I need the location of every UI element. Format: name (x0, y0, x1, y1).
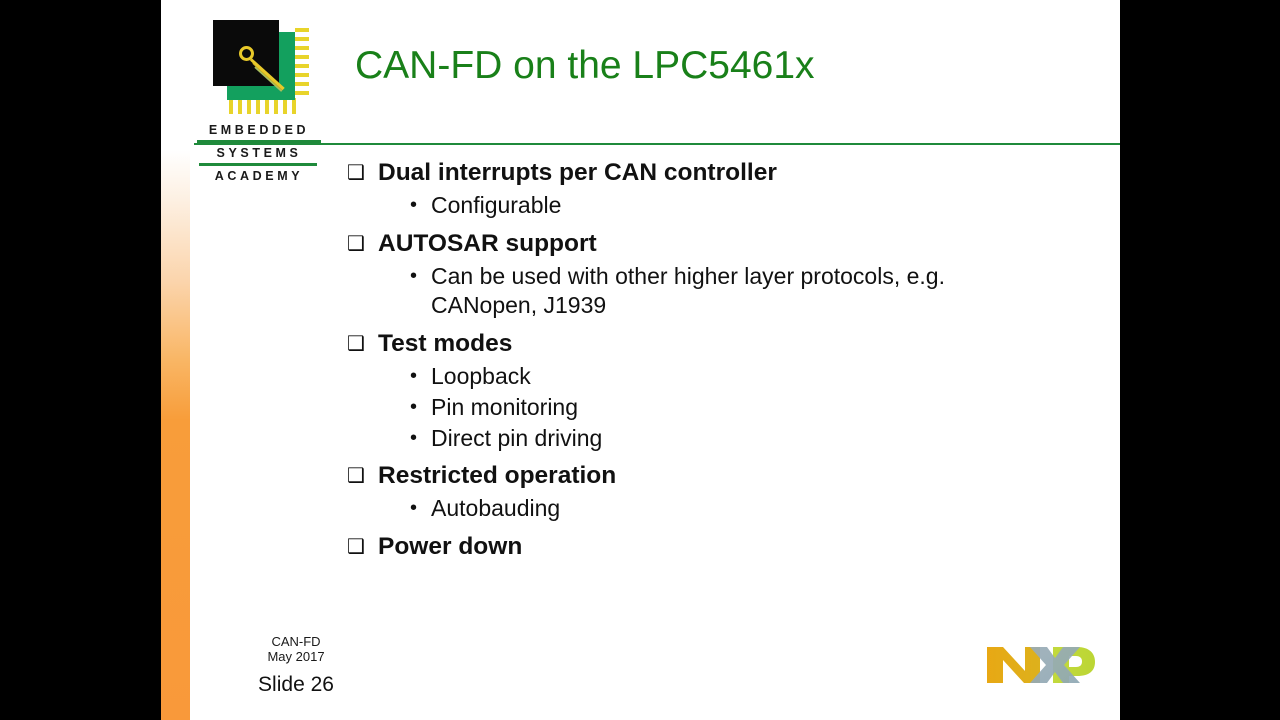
square-bullet-icon: ❑ (347, 329, 378, 359)
list-item: • Can be used with other higher layer pr… (410, 262, 1087, 320)
list-item: • Loopback (410, 362, 1087, 391)
list-item-label: Autobauding (431, 494, 560, 523)
chip-pins-right-icon (295, 28, 309, 100)
dot-bullet-icon: • (410, 494, 431, 523)
key-circle-icon (239, 46, 254, 61)
chip-pins-bottom-icon (229, 98, 297, 114)
dot-bullet-icon: • (410, 393, 431, 422)
list-item: • Configurable (410, 191, 1087, 220)
list-item-label: Direct pin driving (431, 424, 602, 453)
slide-viewer: EMBEDDED SYSTEMS ACADEMY CAN-FD on the L… (0, 0, 1280, 720)
square-bullet-icon: ❑ (347, 158, 378, 188)
logo-line-academy: ACADEMY (197, 168, 321, 185)
logo-line-embedded: EMBEDDED (197, 122, 321, 139)
nxp-logo (985, 643, 1097, 687)
list-item-label: Configurable (431, 191, 561, 220)
list-item-label: Restricted operation (378, 461, 616, 491)
footer-date: May 2017 (221, 649, 371, 664)
list-item-label: Test modes (378, 329, 512, 359)
list-item-label: Pin monitoring (431, 393, 578, 422)
letterbox-bar-right (1120, 0, 1280, 720)
logo-line-systems: SYSTEMS (197, 145, 321, 162)
list-item-label: Power down (378, 532, 522, 562)
bullet-list: ❑ Dual interrupts per CAN controller • C… (347, 158, 1087, 565)
square-bullet-icon: ❑ (347, 461, 378, 491)
list-item: ❑ Restricted operation (347, 461, 1087, 491)
list-item: • Autobauding (410, 494, 1087, 523)
logo-wordmark: EMBEDDED SYSTEMS ACADEMY (197, 122, 321, 185)
list-item-label: Can be used with other higher layer prot… (431, 262, 1051, 320)
chip-die-icon (213, 20, 279, 86)
list-item: • Direct pin driving (410, 424, 1087, 453)
presentation-slide: EMBEDDED SYSTEMS ACADEMY CAN-FD on the L… (161, 0, 1120, 720)
footer-deck-name: CAN-FD (221, 634, 371, 649)
list-item-label: Dual interrupts per CAN controller (378, 158, 777, 188)
list-item-label: Loopback (431, 362, 531, 391)
square-bullet-icon: ❑ (347, 532, 378, 562)
square-bullet-icon: ❑ (347, 229, 378, 259)
logo-rule-2 (199, 163, 317, 166)
list-item: • Pin monitoring (410, 393, 1087, 422)
slide-number: Slide 26 (221, 673, 371, 697)
list-item: ❑ Power down (347, 532, 1087, 562)
dot-bullet-icon: • (410, 262, 431, 291)
page-title: CAN-FD on the LPC5461x (355, 44, 815, 88)
footer-block: CAN-FD May 2017 Slide 26 (221, 634, 371, 697)
dot-bullet-icon: • (410, 362, 431, 391)
dot-bullet-icon: • (410, 424, 431, 453)
list-item-label: AUTOSAR support (378, 229, 597, 259)
list-item: ❑ Test modes (347, 329, 1087, 359)
chip-logo-icon (205, 14, 309, 118)
letterbox-bar-left (0, 0, 161, 720)
list-item: ❑ AUTOSAR support (347, 229, 1087, 259)
title-divider (194, 143, 1120, 145)
list-item: ❑ Dual interrupts per CAN controller (347, 158, 1087, 188)
esacademy-logo: EMBEDDED SYSTEMS ACADEMY (197, 14, 327, 185)
dot-bullet-icon: • (410, 191, 431, 220)
orange-accent-bar (161, 0, 190, 720)
